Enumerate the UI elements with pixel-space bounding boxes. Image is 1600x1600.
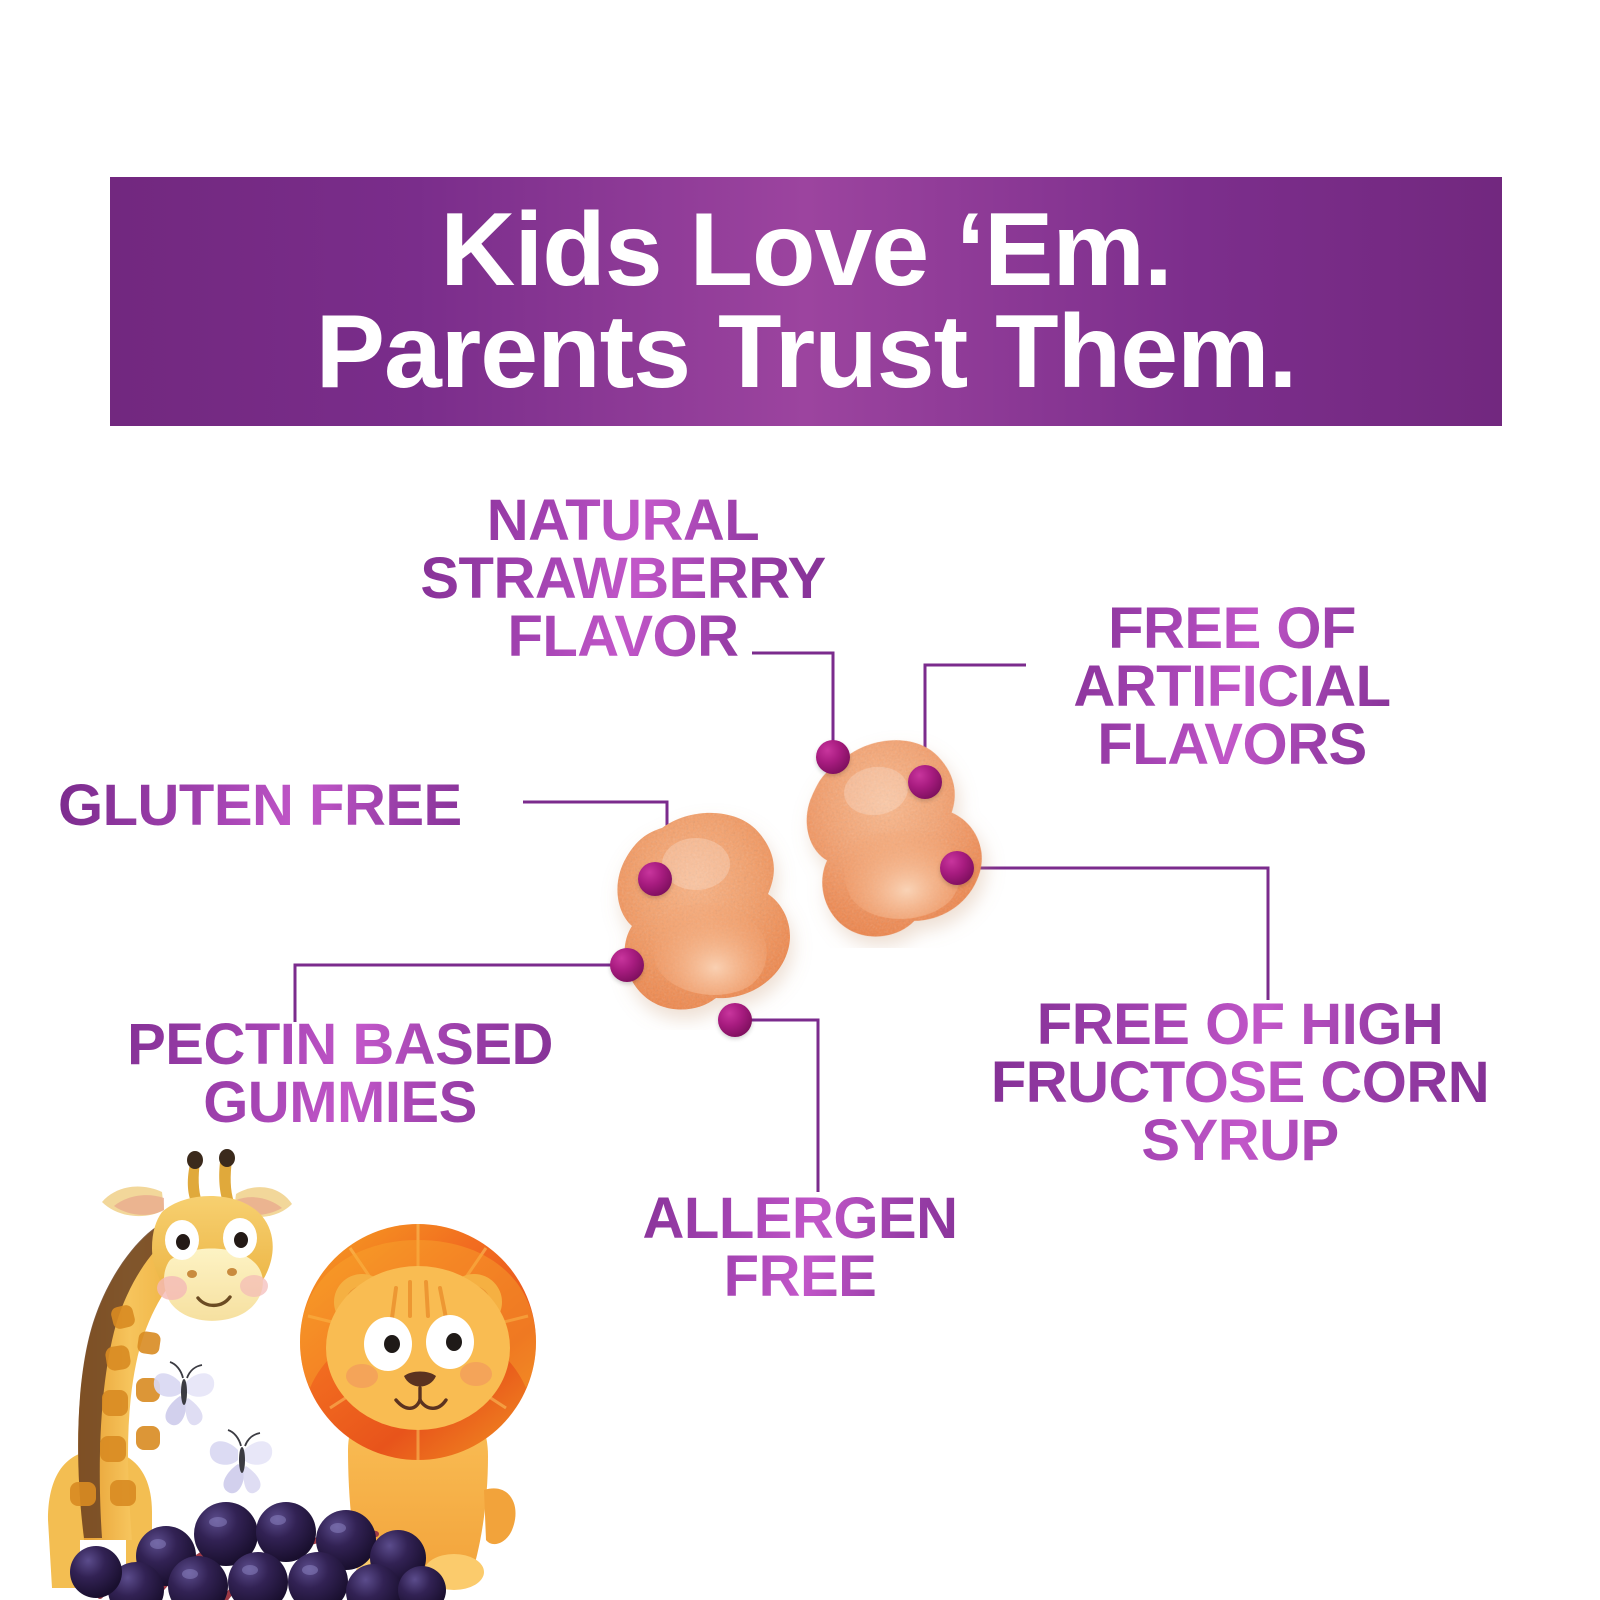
headline-line-1: Kids Love ‘Em.	[440, 200, 1172, 302]
marker-dot-strawberry	[816, 740, 850, 774]
lion-tail	[484, 1488, 516, 1544]
connector-hfcs	[966, 868, 1268, 1000]
giraffe-nostril-right	[227, 1268, 237, 1276]
marker-dot-gluten	[638, 862, 672, 896]
giraffe-cheek-right	[240, 1275, 268, 1297]
character-artwork	[40, 1120, 600, 1600]
lion-cheek-left	[346, 1364, 378, 1388]
lion-cheek-right	[460, 1362, 492, 1386]
headline-line-2: Parents Trust Them.	[316, 302, 1297, 404]
marker-dot-pectin	[610, 948, 644, 982]
marker-dot-hfcs	[940, 851, 974, 885]
callout-free-of-high-fructose-corn-syrup: FREE OF HIGH FRUCTOSE CORN SYRUP	[960, 996, 1520, 1170]
butterfly-lower	[210, 1430, 272, 1493]
callout-gluten-free: GLUTEN FREE	[58, 777, 528, 835]
infographic-canvas: Kids Love ‘Em. Parents Trust Them.	[0, 0, 1600, 1600]
marker-dot-allergen	[718, 1003, 752, 1037]
callout-free-of-artificial-flavors: FREE OF ARTIFICIAL FLAVORS	[1022, 600, 1442, 774]
giraffe-nostril-left	[187, 1270, 197, 1278]
callout-allergen-free: ALLERGEN FREE	[590, 1190, 1010, 1306]
headline-banner: Kids Love ‘Em. Parents Trust Them.	[110, 177, 1502, 426]
butterfly-upper	[154, 1362, 214, 1425]
marker-dot-artificial	[908, 765, 942, 799]
giraffe-cheek-left	[157, 1276, 187, 1300]
callout-pectin-based-gummies: PECTIN BASED GUMMIES	[80, 1016, 600, 1132]
giraffe-horns	[187, 1149, 235, 1204]
gummy-highlight-left	[662, 838, 730, 890]
callout-natural-strawberry-flavor: NATURAL STRAWBERRY FLAVOR	[386, 492, 860, 666]
connector-allergen	[742, 1020, 818, 1192]
